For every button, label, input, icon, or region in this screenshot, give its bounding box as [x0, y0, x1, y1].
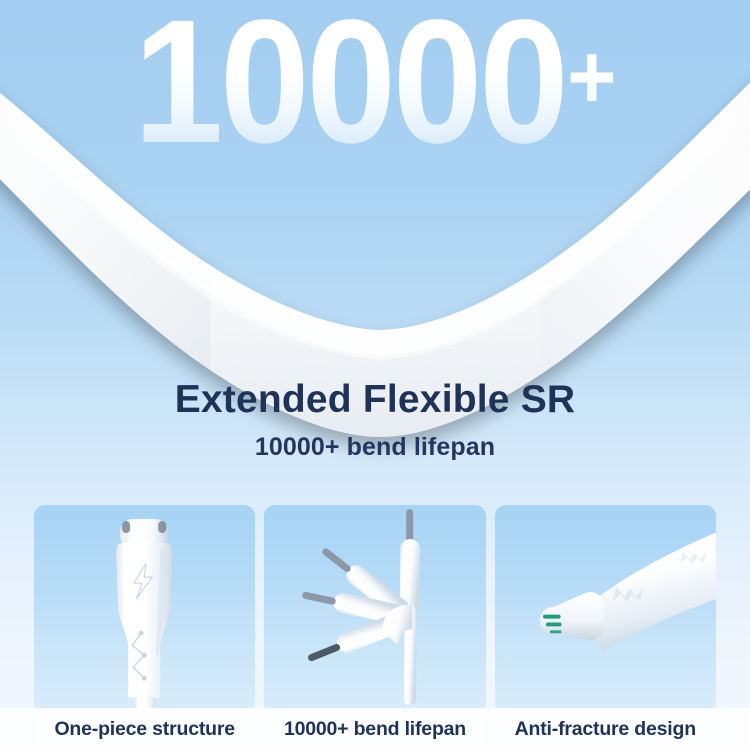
page-title: Extended Flexible SR — [0, 378, 750, 422]
cable-stub — [134, 695, 156, 708]
hero-bend-count: 10000+ — [30, 0, 720, 170]
usb-c-metal-plug — [540, 592, 605, 640]
caption-bend-lifespan: 10000+ bend lifepan — [264, 708, 485, 750]
cable-bend-fan-icon — [264, 505, 485, 708]
cable-bend-copies — [301, 541, 414, 667]
hero-bend-count-suffix: + — [567, 26, 616, 128]
feature-card-bend-lifespan[interactable] — [264, 505, 485, 708]
feature-card-anti-fracture[interactable] — [495, 505, 716, 708]
headline-block: Extended Flexible SR 10000+ bend lifepan — [0, 378, 750, 462]
page-subtitle: 10000+ bend lifepan — [0, 433, 750, 462]
caption-anti-fracture: Anti-fracture design — [495, 708, 716, 750]
feature-card-one-piece[interactable] — [34, 505, 255, 708]
caption-row: One-piece structure 10000+ bend lifepan … — [34, 708, 716, 750]
usb-c-connector-with-lightning-bolt-icon — [34, 505, 255, 708]
hero-bend-count-value: 10000 — [133, 0, 565, 180]
product-feature-banner: 10000+ Extended Flexible SR 10000+ bend … — [0, 0, 750, 750]
caption-one-piece: One-piece structure — [34, 708, 255, 750]
feature-card-row — [34, 505, 716, 708]
usb-c-plug-head-icon — [495, 505, 716, 704]
